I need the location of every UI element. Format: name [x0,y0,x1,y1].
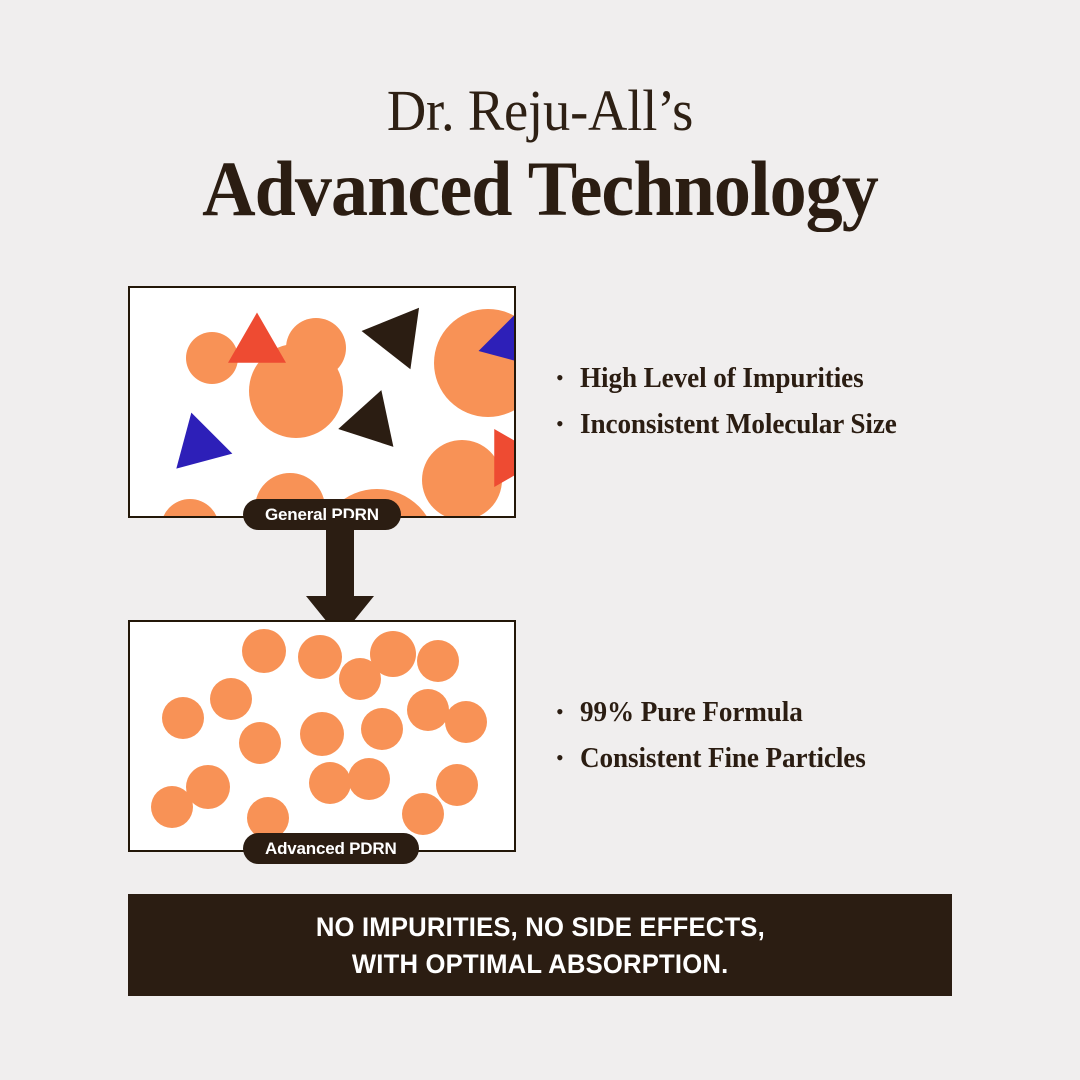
list-item-label: 99% Pure Formula [580,696,803,730]
banner-line-2: WITH OPTIMAL ABSORPTION. [352,948,728,980]
list-item: • Inconsistent Molecular Size [556,408,1026,442]
impurity-panel-circle [434,309,514,417]
advanced-pdrn-particles [130,622,514,850]
infographic-root: Dr. Reju-All’s Advanced Technology Gener… [0,0,1080,1080]
pure-panel-circle [445,701,487,743]
general-particle-canvas [130,288,514,516]
advanced-pdrn-panel [128,620,516,852]
pure-panel-circle [417,640,459,682]
pure-panel-circle [300,712,344,756]
advanced-pdrn-label-text: Advanced PDRN [265,839,397,859]
impurity-panel-triangle [338,381,409,447]
pure-panel-circle [402,793,444,835]
pure-panel-circle [242,629,286,673]
bullet-marker-icon: • [556,367,564,389]
general-pdrn-panel [128,286,516,518]
impurity-panel-triangle [228,313,286,363]
general-pdrn-bullet-list: • High Level of Impurities • Inconsisten… [556,362,1026,454]
pure-panel-circle [309,762,351,804]
list-item: • High Level of Impurities [556,362,1026,396]
bullet-marker-icon: • [556,413,564,435]
general-pdrn-particles [130,288,514,516]
pure-panel-circle [436,764,478,806]
pure-panel-circle [162,697,204,739]
bullet-marker-icon: • [556,747,564,769]
impurity-panel-circle [286,318,346,378]
pure-panel-circle [186,765,230,809]
list-item-label: Consistent Fine Particles [580,742,866,776]
impurity-panel-circle [422,440,502,516]
pure-panel-circle [407,689,449,731]
impurity-panel-circle [161,499,219,516]
list-item: • Consistent Fine Particles [556,742,1026,776]
page-title: Dr. Reju-All’s Advanced Technology [0,78,1080,232]
pure-panel-circle [298,635,342,679]
title-line-1: Dr. Reju-All’s [32,78,1047,144]
pure-panel-circle [151,786,193,828]
summary-banner: NO IMPURITIES, NO SIDE EFFECTS, WITH OPT… [128,894,952,996]
impurity-panel-triangle [176,413,240,482]
bullet-marker-icon: • [556,701,564,723]
pure-panel-circle [370,631,416,677]
impurity-panel-circle [186,332,238,384]
pure-panel-circle [348,758,390,800]
advanced-particle-canvas [130,622,514,850]
list-item: • 99% Pure Formula [556,696,1026,730]
advanced-pdrn-bullet-list: • 99% Pure Formula • Consistent Fine Par… [556,696,1026,788]
impurity-panel-triangle [362,289,444,369]
pure-panel-circle [239,722,281,764]
pure-panel-circle [361,708,403,750]
banner-line-1: NO IMPURITIES, NO SIDE EFFECTS, [315,911,764,943]
list-item-label: Inconsistent Molecular Size [580,408,897,442]
title-line-2: Advanced Technology [27,146,1053,232]
advanced-pdrn-label-pill: Advanced PDRN [243,833,419,864]
pure-panel-circle [210,678,252,720]
list-item-label: High Level of Impurities [580,362,864,396]
